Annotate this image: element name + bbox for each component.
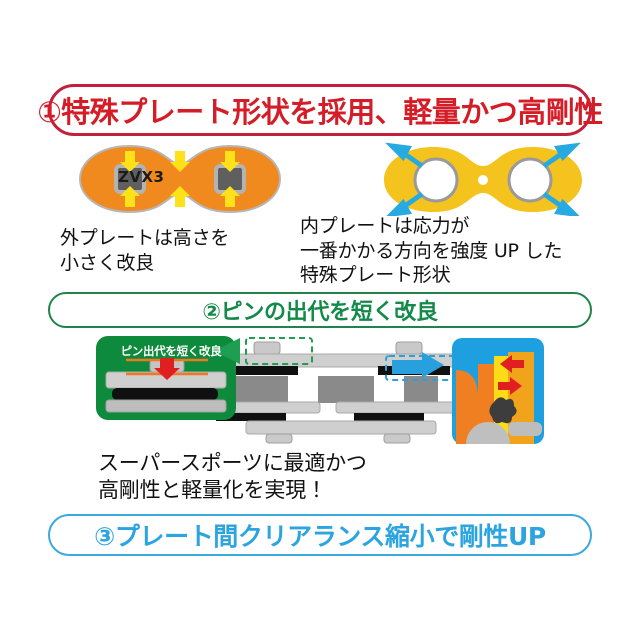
section-2-heading: ②ピンの出代を短く改良 [48,292,592,328]
inner-plate-center-dot [478,175,488,185]
section-1-heading: ①特殊プレート形状を採用、軽量かつ高剛性 [48,84,592,136]
section-3-heading: ③プレート間クリアランス縮小で剛性UP [48,514,592,556]
inner-plate-figure [378,142,588,216]
outer-plate-figure [72,142,288,216]
pin-callout-badge-label: ピン出代を短く改良 [108,343,234,359]
clearance-callout [452,338,544,444]
infographic-page: ①特殊プレート形状を採用、軽量かつ高剛性 ZVX3 [0,0,640,640]
outer-plate-caption: 外プレートは高さを 小さく改良 [60,226,229,275]
inner-plate-caption: 内プレートは応力が 一番かかる方向を強度 UP した 特殊プレート形状 [300,214,562,288]
section-2-caption: スーパースポーツに最適かつ 高剛性と軽量化を実現！ [98,450,367,504]
zvx3-label: ZVX3 [118,168,165,186]
